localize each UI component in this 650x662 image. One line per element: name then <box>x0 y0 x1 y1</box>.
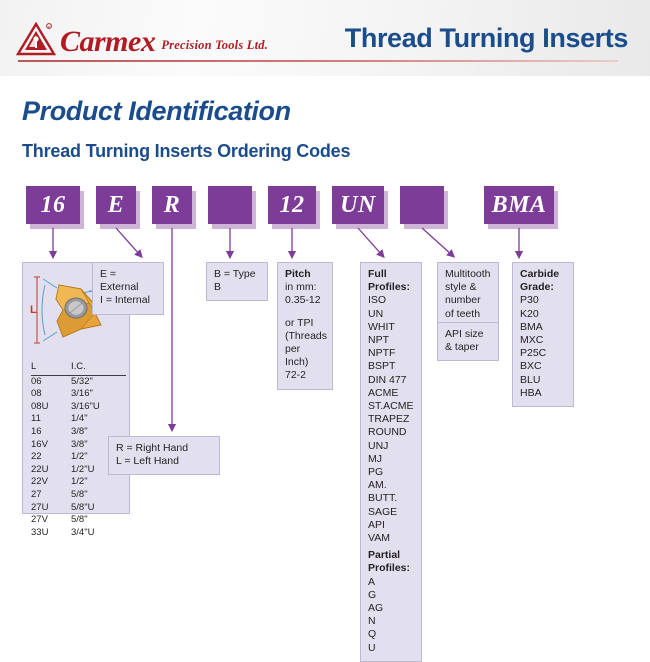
code-box-8[interactable]: BMA <box>484 186 554 224</box>
table-cell: 22U <box>31 464 71 477</box>
table-row: 083/16" <box>31 388 126 401</box>
page-title: Product Identification <box>22 96 291 127</box>
table-cell: 27V <box>31 514 71 527</box>
carbide-grade-item: BLU <box>520 374 567 387</box>
callout-carbide-grade: Carbide Grade: P30K20BMAMXCP25CBXCBLUHBA <box>512 262 574 407</box>
code-box-7[interactable] <box>400 186 444 224</box>
table-cell: 5/32" <box>71 375 126 388</box>
table-cell: 1/4" <box>71 413 126 426</box>
page-subtitle: Thread Turning Inserts Ordering Codes <box>22 141 350 162</box>
callout-pitch: Pitch in mm: 0.35-12 or TPI (Threads per… <box>277 262 333 390</box>
table-cell: 5/8"U <box>71 502 126 515</box>
table-row: 065/32" <box>31 375 126 388</box>
full-profile-item: BSPT <box>368 360 415 373</box>
callout-external-internal: E = External I = Internal <box>92 262 164 315</box>
callout-profiles: Full Profiles: ISOUNWHITNPTNPTFBSPTDIN 4… <box>360 262 422 662</box>
page-header: R Carmex Precision Tools Ltd. Thread Tur… <box>0 0 650 76</box>
code-box-label: E <box>108 193 125 217</box>
partial-profile-item: A <box>368 576 415 589</box>
table-cell: 16 <box>31 426 71 439</box>
table-row: 08U3/16"U <box>31 401 126 414</box>
table-col-header: L <box>31 361 71 375</box>
partial-profile-item: G <box>368 589 415 602</box>
table-cell: 27 <box>31 489 71 502</box>
callout-api: API size & taper <box>437 322 499 361</box>
table-cell: 11 <box>31 413 71 426</box>
table-cell: 1/2" <box>71 476 126 489</box>
code-box-label: UN <box>340 193 376 217</box>
full-profile-item: TRAPEZ <box>368 413 415 426</box>
table-row: 111/4" <box>31 413 126 426</box>
full-profile-item: API <box>368 519 415 532</box>
full-profile-item: PG <box>368 466 415 479</box>
carbide-grade-item: BMA <box>520 321 567 334</box>
full-profile-item: MJ <box>368 453 415 466</box>
table-cell: 06 <box>31 375 71 388</box>
full-profile-item: SAGE <box>368 506 415 519</box>
code-box-label: 16 <box>41 193 66 217</box>
carbide-grade-item: MXC <box>520 334 567 347</box>
brand-tagline: Precision Tools Ltd. <box>161 38 268 56</box>
full-profile-item: ACME <box>368 387 415 400</box>
table-cell: 3/16" <box>71 388 126 401</box>
callout-type-b: B = Type B <box>206 262 268 301</box>
carbide-grade-item: BXC <box>520 360 567 373</box>
table-col-header: I.C. <box>71 361 126 375</box>
full-profile-item: ST.ACME <box>368 400 415 413</box>
table-row: 22V1/2" <box>31 476 126 489</box>
partial-profile-item: N <box>368 615 415 628</box>
table-cell: 3/16"U <box>71 401 126 414</box>
code-box-label: R <box>164 193 181 217</box>
code-box-label: BMA <box>492 193 547 217</box>
table-header-row: LI.C. <box>31 361 126 375</box>
partial-profile-item: Q <box>368 628 415 641</box>
svg-text:L: L <box>30 304 37 316</box>
full-profile-item: NPT <box>368 334 415 347</box>
full-profile-item: WHIT <box>368 321 415 334</box>
table-row: 27V5/8" <box>31 514 126 527</box>
full-profile-item: UN <box>368 308 415 321</box>
table-row: 275/8" <box>31 489 126 502</box>
table-cell: 22V <box>31 476 71 489</box>
partial-profiles-list: AGAGNQU <box>368 576 415 655</box>
callout-multitooth: Multitooth style & number of teeth <box>437 262 499 328</box>
carmex-triangle-logo-icon: R <box>16 22 56 56</box>
full-profile-item: UNJ <box>368 440 415 453</box>
header-divider <box>18 60 618 62</box>
full-profiles-list: ISOUNWHITNPTNPTFBSPTDIN 477ACMEST.ACMETR… <box>368 294 415 545</box>
partial-profile-item: AG <box>368 602 415 615</box>
code-box-3[interactable]: R <box>152 186 192 224</box>
table-cell: 5/8" <box>71 489 126 502</box>
brand-logo: R Carmex Precision Tools Ltd. <box>16 22 268 56</box>
table-cell: 16V <box>31 439 71 452</box>
partial-profile-item: U <box>368 642 415 655</box>
brand-name: Carmex <box>60 28 155 56</box>
table-cell: 08U <box>31 401 71 414</box>
code-box-2[interactable]: E <box>96 186 136 224</box>
full-profile-item: ISO <box>368 294 415 307</box>
table-cell: 5/8" <box>71 514 126 527</box>
header-title: Thread Turning Inserts <box>345 23 628 54</box>
callout-hand-direction: R = Right Hand L = Left Hand <box>108 436 220 475</box>
table-row: 33U3/4"U <box>31 527 126 540</box>
code-box-label: 12 <box>280 193 305 217</box>
carbide-grade-item: P25C <box>520 347 567 360</box>
carbide-grade-item: HBA <box>520 387 567 400</box>
code-box-5[interactable]: 12 <box>268 186 316 224</box>
full-profile-item: AM. BUTT. <box>368 479 415 505</box>
table-cell: 3/4"U <box>71 527 126 540</box>
table-cell: 33U <box>31 527 71 540</box>
full-profile-item: ROUND <box>368 426 415 439</box>
carbide-grade-list: P30K20BMAMXCP25CBXCBLUHBA <box>520 294 567 400</box>
table-cell: 27U <box>31 502 71 515</box>
table-cell: 08 <box>31 388 71 401</box>
code-box-1[interactable]: 16 <box>26 186 80 224</box>
code-box-4[interactable] <box>208 186 252 224</box>
carbide-grade-item: K20 <box>520 308 567 321</box>
table-cell: 22 <box>31 451 71 464</box>
table-row: 27U5/8"U <box>31 502 126 515</box>
full-profile-item: VAM <box>368 532 415 545</box>
full-profile-item: DIN 477 <box>368 374 415 387</box>
full-profile-item: NPTF <box>368 347 415 360</box>
code-box-6[interactable]: UN <box>332 186 384 224</box>
carbide-grade-item: P30 <box>520 294 567 307</box>
